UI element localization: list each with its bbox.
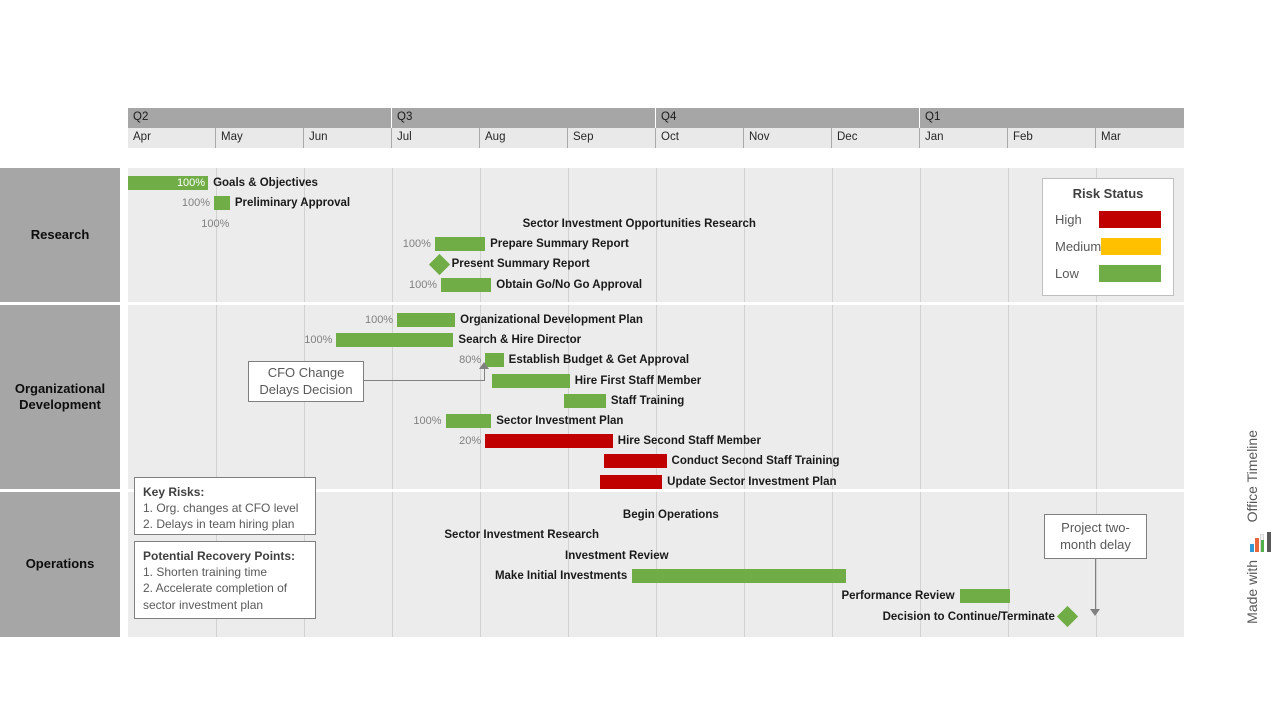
branding-office-timeline: Office Timeline Made with <box>1244 430 1278 624</box>
swimlane-label-research: Research <box>0 168 120 302</box>
task-row[interactable]: 100%Prepare Summary Report <box>403 236 629 252</box>
task-percent-complete: 100% <box>304 334 332 346</box>
task-row[interactable]: 100%Search & Hire Director <box>304 332 581 348</box>
task-bar-low-risk[interactable] <box>492 374 569 388</box>
task-bar-low-risk[interactable]: 100% <box>128 176 208 190</box>
gridline <box>920 305 921 489</box>
task-label: Begin Operations <box>623 509 719 521</box>
task-percent-complete: 100% <box>409 279 437 291</box>
task-percent-complete: 100% <box>177 176 205 190</box>
note-key-risks-item-2: 2. Delays in team hiring plan <box>143 516 307 532</box>
task-row[interactable]: 100%Sector Investment Opportunities Rese… <box>201 216 756 232</box>
task-label: Sector Investment Plan <box>496 415 623 427</box>
task-row[interactable]: Begin Operations <box>0 507 739 523</box>
swimlane-label-organizational-development: Organizational Development <box>0 305 120 489</box>
gridline <box>1096 305 1097 489</box>
task-bar-medium-risk[interactable] <box>604 528 752 542</box>
task-row[interactable]: Sector Investment Research <box>0 527 752 543</box>
task-label: Decision to Continue/Terminate <box>883 611 1055 623</box>
milestone-diamond-icon[interactable] <box>1057 606 1078 627</box>
legend-item-label: Medium <box>1055 239 1101 254</box>
connector-delay-vertical <box>1095 559 1096 611</box>
gantt-chart-canvas: Q2Q3Q4Q1 AprMayJunJulAugSepOctNovDecJanF… <box>0 0 1280 720</box>
note-recovery-points: Potential Recovery Points: 1. Shorten tr… <box>134 541 316 619</box>
task-label: Sector Investment Research <box>444 529 599 541</box>
timescale-month-jan: Jan <box>920 128 1008 148</box>
gridline <box>1008 168 1009 302</box>
task-percent-complete: 20% <box>459 435 481 447</box>
task-bar-low-risk[interactable] <box>960 589 1010 603</box>
risk-status-legend: Risk Status HighMediumLow <box>1042 178 1174 296</box>
task-percent-complete: 100% <box>182 197 210 209</box>
task-row[interactable]: Staff Training <box>564 393 685 409</box>
callout-delay-line-2: month delay <box>1060 537 1131 554</box>
legend-color-swatch <box>1099 265 1161 282</box>
note-recovery-item-1: 1. Shorten training time <box>143 564 307 580</box>
task-label: Establish Budget & Get Approval <box>509 354 689 366</box>
timescale-month-sep: Sep <box>568 128 656 148</box>
gridline <box>392 168 393 302</box>
note-recovery-item-2: 2. Accelerate completion of <box>143 580 307 596</box>
timescale-month-aug: Aug <box>480 128 568 148</box>
legend-title: Risk Status <box>1043 179 1173 206</box>
timescale-month-jul: Jul <box>392 128 480 148</box>
task-label: Present Summary Report <box>452 258 590 270</box>
task-label: Make Initial Investments <box>495 570 627 582</box>
branding-product-label: Office Timeline <box>1244 430 1260 522</box>
task-row[interactable]: 100%Goals & Objectives <box>128 175 318 191</box>
connector-cfo-arrowhead-icon <box>479 362 489 369</box>
task-label: Performance Review <box>841 590 954 602</box>
task-row[interactable]: Update Sector Investment Plan <box>600 474 837 490</box>
timescale-month-mar: Mar <box>1096 128 1184 148</box>
task-label: Prepare Summary Report <box>490 238 629 250</box>
task-row[interactable]: Present Summary Report <box>432 256 590 272</box>
callout-delay-line-1: Project two- <box>1061 520 1130 537</box>
timescale-quarter-q2: Q2 <box>128 108 392 128</box>
task-bar-low-risk[interactable] <box>446 414 492 428</box>
task-percent-complete: 100% <box>403 238 431 250</box>
milestone-diamond-icon[interactable] <box>721 504 742 525</box>
gridline <box>216 305 217 489</box>
note-key-risks-title: Key Risks: <box>143 484 307 500</box>
timescale-quarter-q4: Q4 <box>656 108 920 128</box>
note-key-risks: Key Risks: 1. Org. changes at CFO level … <box>134 477 316 535</box>
task-bar-low-risk[interactable] <box>435 237 485 251</box>
gridline <box>744 168 745 302</box>
task-percent-complete: 100% <box>201 218 229 230</box>
task-bar-low-risk[interactable] <box>397 313 455 327</box>
timescale-quarter-q3: Q3 <box>392 108 656 128</box>
task-bar-low-risk[interactable] <box>564 394 606 408</box>
task-label: Hire First Staff Member <box>575 375 702 387</box>
task-percent-complete: 80% <box>459 354 481 366</box>
task-row[interactable]: Conduct Second Staff Training <box>604 453 840 469</box>
timescale-month-dec: Dec <box>832 128 920 148</box>
task-label: Obtain Go/No Go Approval <box>496 279 642 291</box>
task-bar-low-risk[interactable] <box>336 333 453 347</box>
legend-item-label: Low <box>1055 266 1099 281</box>
task-label: Investment Review <box>565 550 669 562</box>
timescale-month-jun: Jun <box>304 128 392 148</box>
timescale-month-nov: Nov <box>744 128 832 148</box>
gridline <box>1008 305 1009 489</box>
legend-rows: HighMediumLow <box>1043 206 1173 287</box>
connector-delay-arrowhead-icon <box>1090 609 1100 616</box>
task-row[interactable]: Make Initial Investments <box>0 568 846 584</box>
task-label: Hire Second Staff Member <box>618 435 761 447</box>
connector-cfo-horizontal <box>364 380 484 381</box>
task-row[interactable]: 80%Establish Budget & Get Approval <box>459 352 689 368</box>
legend-color-swatch <box>1101 238 1161 255</box>
callout-cfo-change: CFO Change Delays Decision <box>248 361 364 402</box>
gridline <box>656 168 657 302</box>
timescale-quarter-row: Q2Q3Q4Q1 <box>128 108 1184 128</box>
timescale-month-row: AprMayJunJulAugSepOctNovDecJanFebMar <box>128 128 1184 148</box>
timescale-month-feb: Feb <box>1008 128 1096 148</box>
gridline <box>920 168 921 302</box>
task-label: Organizational Development Plan <box>460 314 643 326</box>
callout-cfo-line-1: CFO Change <box>268 365 345 382</box>
task-row[interactable]: 20%Hire Second Staff Member <box>459 433 761 449</box>
task-row[interactable]: 100%Obtain Go/No Go Approval <box>409 277 642 293</box>
task-bar-low-risk[interactable] <box>441 278 491 292</box>
task-bar-high-risk[interactable] <box>600 475 662 489</box>
task-percent-complete: 100% <box>413 415 441 427</box>
task-row[interactable]: 100%Sector Investment Plan <box>413 413 623 429</box>
task-label: Search & Hire Director <box>458 334 581 346</box>
task-bar-medium-risk[interactable] <box>674 549 818 563</box>
timescale-month-apr: Apr <box>128 128 216 148</box>
branding-made-with-label: Made with <box>1244 560 1260 624</box>
task-bar-low-risk[interactable] <box>214 196 230 210</box>
legend-item-medium: Medium <box>1043 233 1173 260</box>
note-recovery-item-2-cont: sector investment plan <box>143 597 307 613</box>
note-recovery-title: Potential Recovery Points: <box>143 548 307 564</box>
legend-item-low: Low <box>1043 260 1173 287</box>
timescale-month-oct: Oct <box>656 128 744 148</box>
task-percent-complete: 100% <box>365 314 393 326</box>
callout-project-delay: Project two- month delay <box>1044 514 1147 559</box>
task-bar-high-risk[interactable] <box>485 434 613 448</box>
task-row[interactable]: 100%Preliminary Approval <box>182 195 350 211</box>
task-bar-high-risk[interactable] <box>604 454 666 468</box>
callout-cfo-line-2: Delays Decision <box>259 382 352 399</box>
legend-color-swatch <box>1099 211 1161 228</box>
task-bar-low-risk[interactable] <box>632 569 846 583</box>
task-row[interactable]: Hire First Staff Member <box>492 373 701 389</box>
legend-item-label: High <box>1055 212 1099 227</box>
task-bar-medium-risk[interactable] <box>233 217 517 231</box>
office-timeline-logo-icon <box>1250 530 1272 552</box>
task-label: Preliminary Approval <box>235 197 350 209</box>
milestone-diamond-icon[interactable] <box>429 254 450 275</box>
task-label: Sector Investment Opportunities Research <box>523 218 756 230</box>
task-label: Update Sector Investment Plan <box>667 476 836 488</box>
legend-item-high: High <box>1043 206 1173 233</box>
timescale-month-may: May <box>216 128 304 148</box>
task-label: Staff Training <box>611 395 684 407</box>
task-row[interactable]: Investment Review <box>0 548 818 564</box>
note-key-risks-item-1: 1. Org. changes at CFO level <box>143 500 307 516</box>
connector-cfo-vertical <box>484 368 485 381</box>
gridline <box>832 168 833 302</box>
task-row[interactable]: 100%Organizational Development Plan <box>365 312 643 328</box>
task-label: Goals & Objectives <box>213 177 318 189</box>
timescale-quarter-q1: Q1 <box>920 108 1184 128</box>
task-label: Conduct Second Staff Training <box>672 455 840 467</box>
